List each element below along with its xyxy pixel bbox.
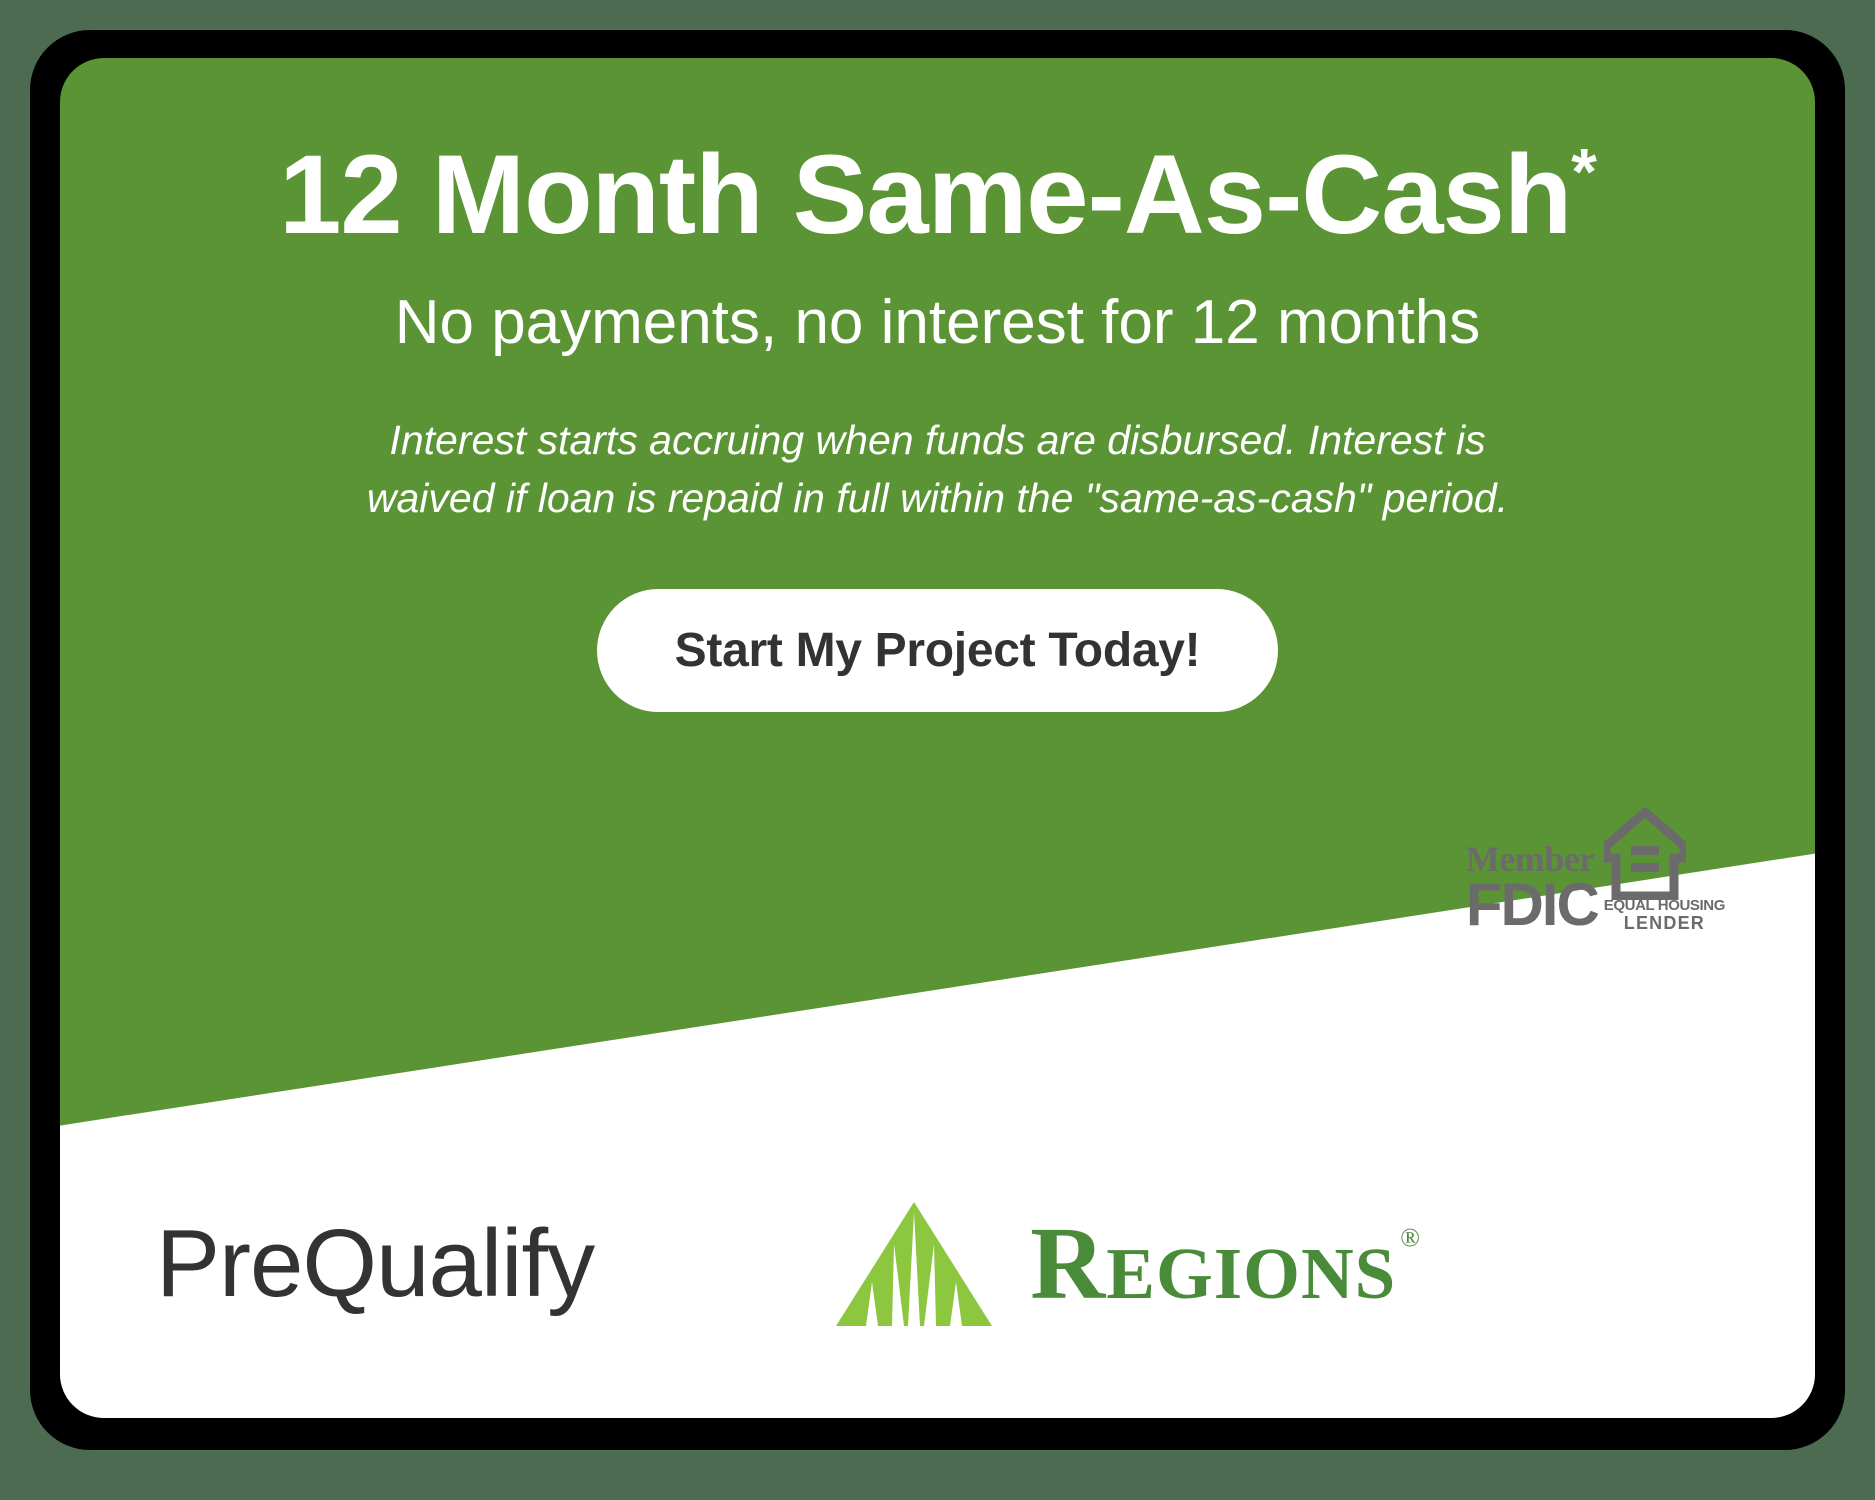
regions-wordmark-group: Regions ® [1030,1217,1420,1311]
cta-container: Start My Project Today! [60,589,1815,712]
footer-brand-row: PreQualify Regions ® [60,1198,1815,1330]
promo-card-frame: 12 Month Same-As-Cash* No payments, no i… [30,30,1845,1450]
prequalify-wordmark: PreQualify [156,1216,594,1312]
equal-housing-line-2: LENDER [1604,914,1725,933]
regions-logo: Regions ® [834,1198,1420,1330]
fdic-text-block: Member FDIC [1466,842,1598,932]
promo-subheadline: No payments, no interest for 12 months [60,288,1815,357]
start-my-project-button[interactable]: Start My Project Today! [597,589,1279,712]
promo-content: 12 Month Same-As-Cash* No payments, no i… [60,58,1815,712]
disclaimer-line-2: waived if loan is repaid in full within … [367,475,1508,521]
regions-triangle-icon [834,1198,994,1330]
equal-housing-text-block: EQUAL HOUSING LENDER [1604,898,1725,933]
promo-disclaimer: Interest starts accruing when funds are … [60,411,1815,527]
page-title: 12 Month Same-As-Cash* [60,136,1815,254]
promo-card: 12 Month Same-As-Cash* No payments, no i… [60,58,1815,1418]
headline-asterisk: * [1571,135,1596,209]
equal-housing-lender-block: EQUAL HOUSING LENDER [1604,808,1725,933]
member-fdic-badge: Member FDIC EQUAL HOUSING LENDER [1466,808,1725,933]
equal-housing-lender-icon [1604,808,1686,900]
registered-trademark-icon: ® [1400,1225,1420,1251]
regions-wordmark-text: Regions [1030,1217,1396,1311]
disclaimer-line-1: Interest starts accruing when funds are … [389,417,1485,463]
equal-housing-line-1: EQUAL HOUSING [1604,898,1725,914]
fdic-acronym-label: FDIC [1466,877,1598,932]
headline-text: 12 Month Same-As-Cash [279,132,1571,257]
